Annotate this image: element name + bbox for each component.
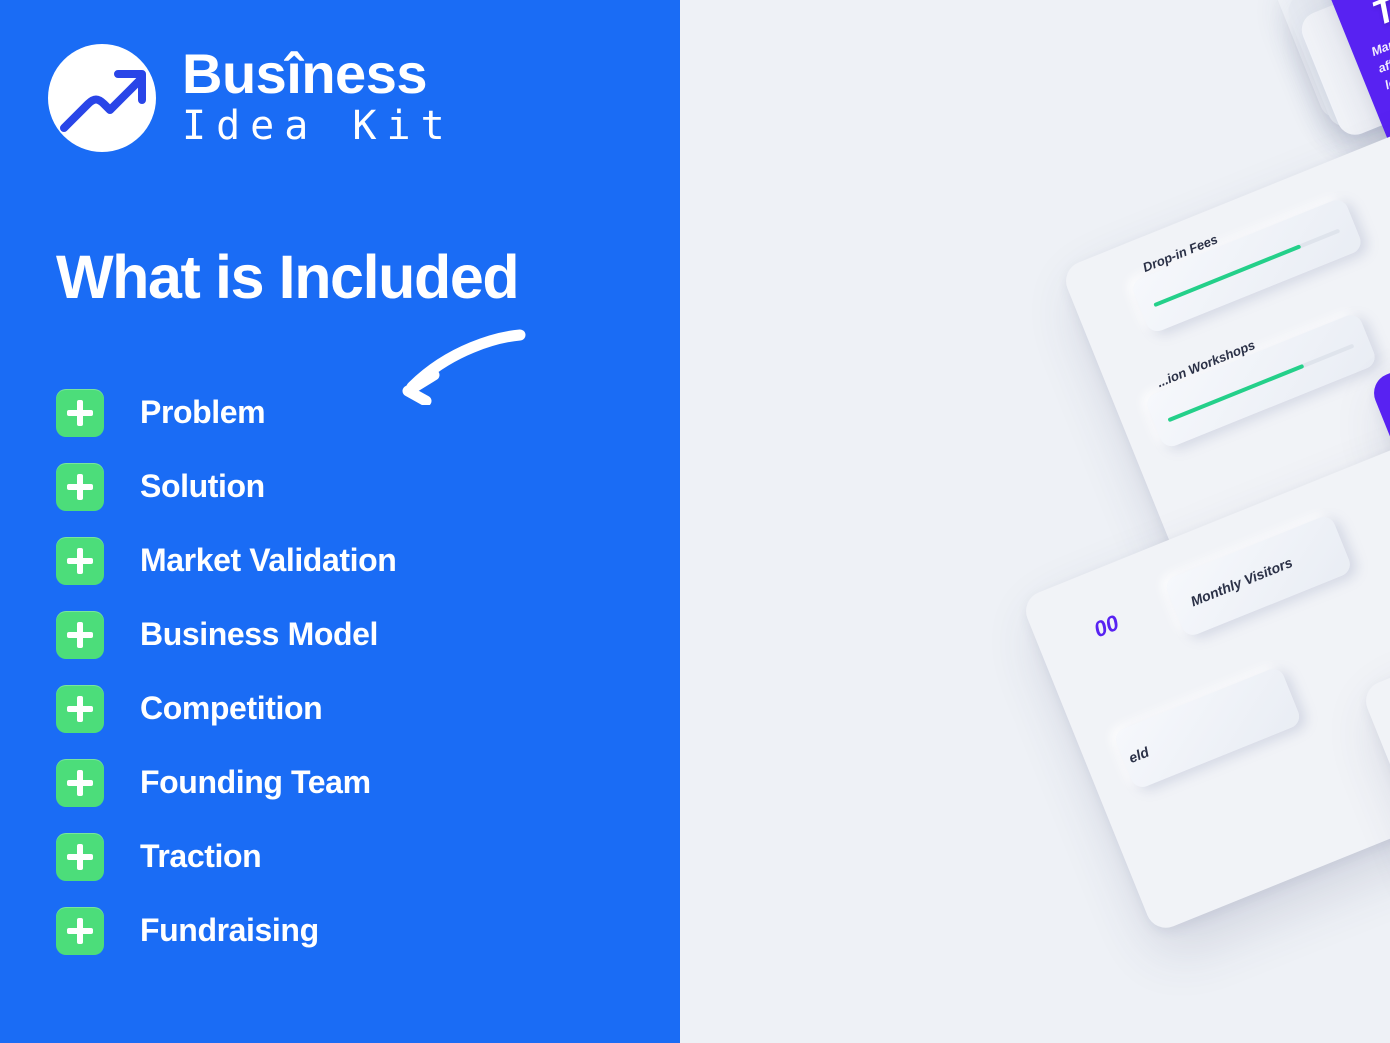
promo-graphic: THE PROBLEM Many individuals and communi… xyxy=(0,0,1390,1043)
plus-icon xyxy=(56,537,104,585)
included-features-list: Problem Solution Market Validation Busin… xyxy=(56,388,616,980)
list-item-label: Competition xyxy=(140,690,322,727)
list-item-label: Fundraising xyxy=(140,912,319,949)
list-item-label: Business Model xyxy=(140,616,378,653)
list-item-label: Problem xyxy=(140,394,265,431)
brand-logo[interactable]: Busîness Idea Kit xyxy=(48,44,455,152)
list-item-label: Founding Team xyxy=(140,764,371,801)
trend-up-arrow-icon xyxy=(48,44,156,152)
left-panel: Busîness Idea Kit What is Included Probl… xyxy=(0,0,680,1043)
list-item-business-model[interactable]: Business Model xyxy=(56,610,616,659)
list-item-label: Solution xyxy=(140,468,265,505)
plus-icon xyxy=(56,463,104,511)
page-title: What is Included xyxy=(56,247,518,308)
plus-icon xyxy=(56,907,104,955)
traction-stat-number: 00 xyxy=(1090,610,1122,643)
list-item-problem[interactable]: Problem xyxy=(56,388,616,437)
list-item-fundraising[interactable]: Fundraising xyxy=(56,906,616,955)
list-item-market-validation[interactable]: Market Validation xyxy=(56,536,616,585)
list-item-label: Traction xyxy=(140,838,261,875)
plus-icon xyxy=(56,759,104,807)
brand-subtitle: Idea Kit xyxy=(182,103,455,149)
list-item-solution[interactable]: Solution xyxy=(56,462,616,511)
plus-icon xyxy=(56,685,104,733)
plus-icon xyxy=(56,611,104,659)
list-item-label: Market Validation xyxy=(140,542,396,579)
logo-circle xyxy=(48,44,156,152)
plus-icon xyxy=(56,389,104,437)
list-item-founding-team[interactable]: Founding Team xyxy=(56,758,616,807)
slide-previews-stage: THE PROBLEM Many individuals and communi… xyxy=(680,0,1390,1043)
list-item-competition[interactable]: Competition xyxy=(56,684,616,733)
brand-title: Busîness xyxy=(182,47,455,102)
traction-card-second[interactable] xyxy=(1113,666,1303,791)
plus-icon xyxy=(56,833,104,881)
list-item-traction[interactable]: Traction xyxy=(56,832,616,881)
